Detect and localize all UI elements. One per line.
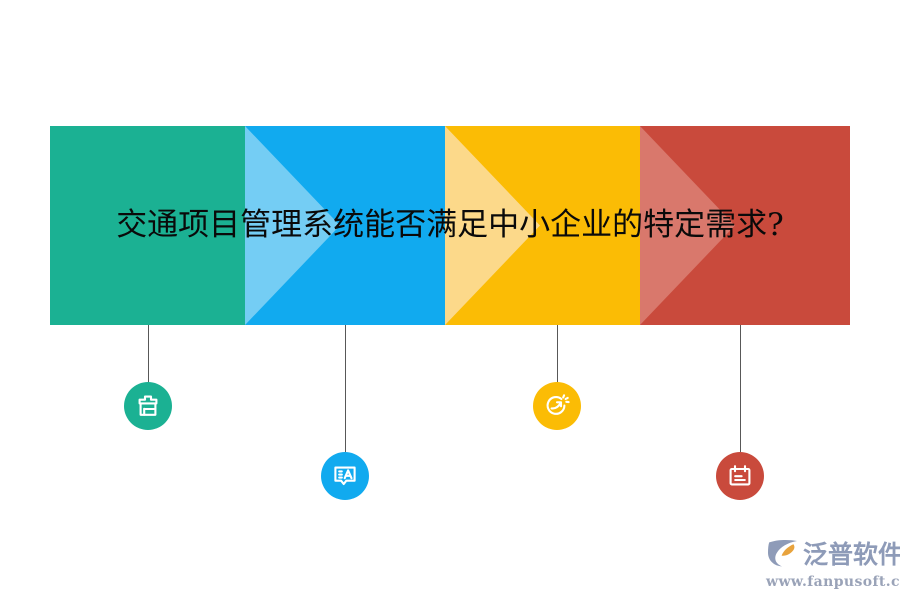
chevron-overlay-red <box>640 126 735 325</box>
chevron-overlay-blue <box>245 126 340 325</box>
brand-name: 泛普软件 <box>803 542 900 567</box>
banner-segment-green[interactable] <box>50 126 245 325</box>
connector-line-3 <box>557 325 558 382</box>
fanpu-logo-mark <box>766 538 800 570</box>
slide-canvas: 交通项目管理系统能否满足中小企业的特定需求? <box>0 0 900 600</box>
connector-line-1 <box>148 325 149 382</box>
chevron-overlay-yellow <box>445 126 540 325</box>
brand-logo[interactable]: 泛普软件 www.fanpusoft.com <box>766 536 892 592</box>
growth-arrow-icon <box>543 392 571 420</box>
icon-badge-growth[interactable] <box>533 382 581 430</box>
process-banner <box>50 126 850 325</box>
shop-icon <box>134 392 162 420</box>
banner-segment-blue[interactable] <box>245 126 445 325</box>
translate-chat-icon <box>331 462 359 490</box>
banner-segment-yellow[interactable] <box>445 126 640 325</box>
connector-line-2 <box>345 325 346 452</box>
brand-url: www.fanpusoft.com <box>766 575 892 589</box>
icon-badge-calendar[interactable] <box>716 452 764 500</box>
banner-segment-red[interactable] <box>640 126 850 325</box>
icon-badge-translate[interactable] <box>321 452 369 500</box>
icon-badge-shop[interactable] <box>124 382 172 430</box>
calendar-note-icon <box>726 462 754 490</box>
connector-line-4 <box>740 325 741 452</box>
